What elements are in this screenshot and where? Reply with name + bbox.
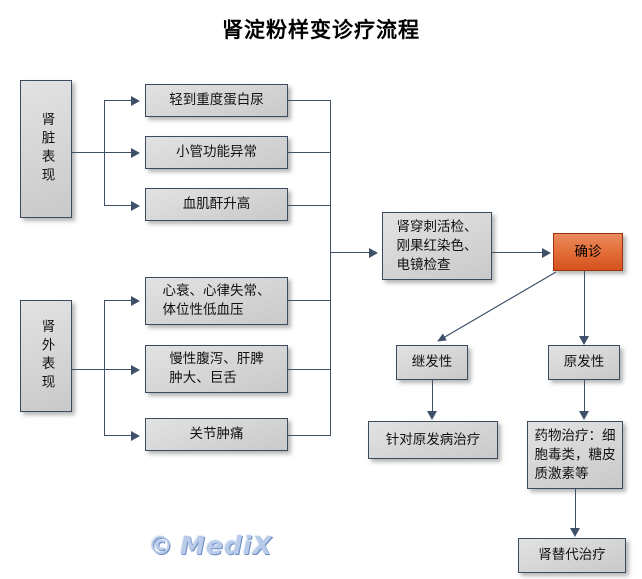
arrowhead-workup xyxy=(369,248,378,258)
arrowhead-renal-1 xyxy=(131,96,140,106)
arrowhead-primary-treatment xyxy=(579,411,589,420)
group-label-renal: 肾脏表现 xyxy=(20,80,72,218)
diagonal-edge-layer xyxy=(0,0,642,579)
edge-collect-extrarenal-1 xyxy=(288,300,330,301)
extrarenal-item-3: 关节肿痛 xyxy=(145,418,288,451)
secondary-treatment-node: 针对原发病治疗 xyxy=(368,421,498,459)
arrowhead-extrarenal-1 xyxy=(131,296,140,306)
renal-item-2: 小管功能异常 xyxy=(145,136,288,169)
arrowhead-confirmed xyxy=(542,248,551,258)
edge-renal-stem xyxy=(72,152,104,153)
watermark-text: MediX xyxy=(180,531,273,560)
extrarenal-item-1: 心衰、心律失常、 体位性低血压 xyxy=(145,277,288,325)
group-label-extrarenal: 肾外表现 xyxy=(20,300,72,412)
edge-extrarenal-3 xyxy=(104,435,132,436)
edge-collect-renal-1 xyxy=(288,100,330,101)
edge-collect-extrarenal-2 xyxy=(288,369,330,370)
edge-renal-1 xyxy=(104,100,132,101)
edge-extrarenal-2 xyxy=(104,369,132,370)
replacement-treatment-node: 肾替代治疗 xyxy=(518,538,626,573)
secondary-node: 继发性 xyxy=(396,345,468,380)
extrarenal-item-2-label: 慢性腹泻、肝脾 肿大、巨舌 xyxy=(169,350,264,388)
primary-node: 原发性 xyxy=(548,345,620,380)
primary-treatment-node: 药物治疗：细 胞毒类，糖皮 质激素等 xyxy=(527,421,623,489)
arrowhead-extrarenal-3 xyxy=(131,431,140,441)
edge-treatment-to-replacement xyxy=(575,489,576,529)
edge-collector-bus xyxy=(330,100,331,436)
edge-collect-extrarenal-3 xyxy=(288,435,330,436)
workup-node: 肾穿刺活检、 刚果红染色、 电镜检查 xyxy=(382,212,492,280)
edge-confirmed-to-secondary xyxy=(438,272,556,341)
flowchart-canvas: 肾淀粉样变诊疗流程 肾脏表现 轻到重度蛋白尿 小管功能异常 血肌酐升高 肾外表现… xyxy=(0,0,642,579)
edge-bus-to-workup xyxy=(330,252,370,253)
extrarenal-item-1-label: 心衰、心律失常、 体位性低血压 xyxy=(163,282,271,320)
arrowhead-primary xyxy=(579,336,589,345)
arrowhead-renal-3 xyxy=(131,201,140,211)
edge-renal-3 xyxy=(104,205,132,206)
arrowhead-replacement xyxy=(570,528,580,537)
workup-label: 肾穿刺活检、 刚果红染色、 电镜检查 xyxy=(397,218,478,275)
arrowhead-extrarenal-2 xyxy=(131,365,140,375)
arrowhead-renal-2 xyxy=(131,148,140,158)
renal-item-1: 轻到重度蛋白尿 xyxy=(145,84,288,117)
edge-extrarenal-stem xyxy=(72,369,104,370)
edge-collect-renal-3 xyxy=(288,205,330,206)
renal-item-3: 血肌酐升高 xyxy=(145,188,288,221)
edge-workup-to-confirmed xyxy=(492,252,542,253)
edge-extrarenal-1 xyxy=(104,300,132,301)
extrarenal-item-2: 慢性腹泻、肝脾 肿大、巨舌 xyxy=(145,345,288,393)
watermark: ©MediX xyxy=(148,531,273,560)
edge-collect-renal-2 xyxy=(288,152,330,153)
edge-confirmed-to-primary xyxy=(584,271,585,337)
copyright-icon: © xyxy=(148,531,174,560)
primary-treatment-label: 药物治疗：细 胞毒类，糖皮 质激素等 xyxy=(535,427,616,484)
edge-secondary-to-treatment xyxy=(432,380,433,412)
edge-primary-to-treatment xyxy=(584,380,585,412)
page-title: 肾淀粉样变诊疗流程 xyxy=(0,14,642,44)
confirmed-node: 确诊 xyxy=(553,233,623,271)
edge-extrarenal-bus xyxy=(104,300,105,435)
edge-renal-2 xyxy=(104,152,132,153)
arrowhead-secondary-treatment xyxy=(427,411,437,420)
